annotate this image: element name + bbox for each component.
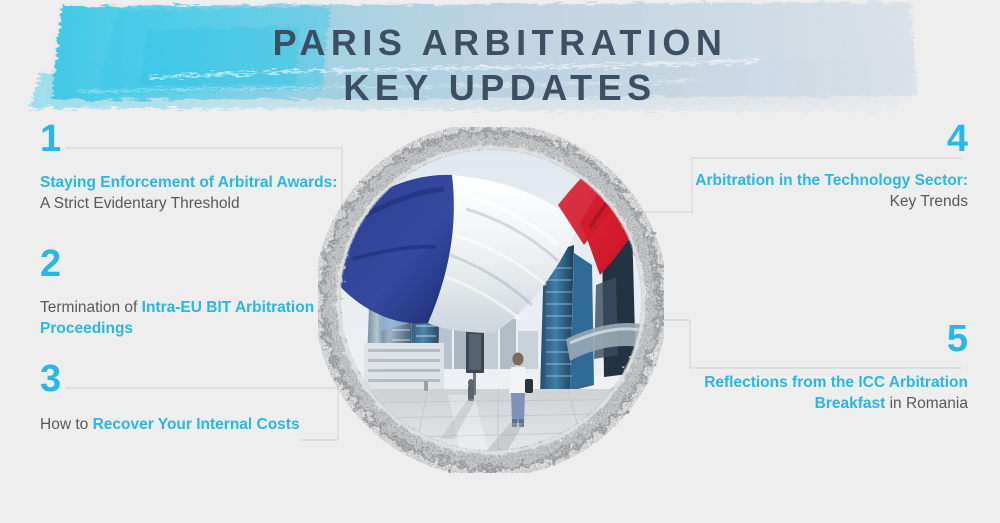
item-number-5: 5: [668, 322, 968, 356]
item-number-4: 4: [668, 122, 968, 156]
item-1-bold: Staying Enforcement of Arbitral Awards:: [40, 174, 337, 191]
update-item-1[interactable]: 1 Staying Enforcement of Arbitral Awards…: [40, 122, 340, 214]
item-text-3: How to Recover Your Internal Costs: [40, 414, 340, 435]
update-item-4[interactable]: 4 Arbitration in the Technology Sector: …: [668, 122, 968, 212]
infographic-canvas: PARIS ARBITRATION KEY UPDATES: [0, 0, 1000, 523]
update-item-3[interactable]: 3 How to Recover Your Internal Costs: [40, 362, 340, 435]
item-3-plain: How to: [40, 416, 93, 433]
item-1-plain: A Strict Evidentary Threshold: [40, 195, 240, 212]
item-text-2: Termination of Intra-EU BIT Arbitration …: [40, 297, 340, 339]
item-4-plain: Key Trends: [890, 193, 968, 210]
title-line-1: PARIS ARBITRATION: [0, 20, 1000, 65]
item-4-bold: Arbitration in the Technology Sector:: [695, 172, 968, 189]
item-text-4: Arbitration in the Technology Sector: Ke…: [668, 170, 968, 212]
item-number-2: 2: [40, 247, 340, 281]
title-line-2: KEY UPDATES: [0, 65, 1000, 110]
center-photo: [318, 127, 664, 473]
update-item-5[interactable]: 5 Reflections from the ICC Arbitration B…: [668, 322, 968, 414]
item-2-plain: Termination of: [40, 299, 142, 316]
item-number-3: 3: [40, 362, 340, 396]
paris-defense-flag-image: [318, 127, 664, 473]
item-text-5: Reflections from the ICC Arbitration Bre…: [668, 372, 968, 414]
page-title: PARIS ARBITRATION KEY UPDATES: [0, 20, 1000, 110]
item-5-plain: in Romania: [885, 395, 968, 412]
item-number-1: 1: [40, 122, 340, 156]
item-text-1: Staying Enforcement of Arbitral Awards: …: [40, 172, 340, 214]
item-3-bold: Recover Your Internal Costs: [93, 416, 300, 433]
update-item-2[interactable]: 2 Termination of Intra-EU BIT Arbitratio…: [40, 247, 340, 339]
